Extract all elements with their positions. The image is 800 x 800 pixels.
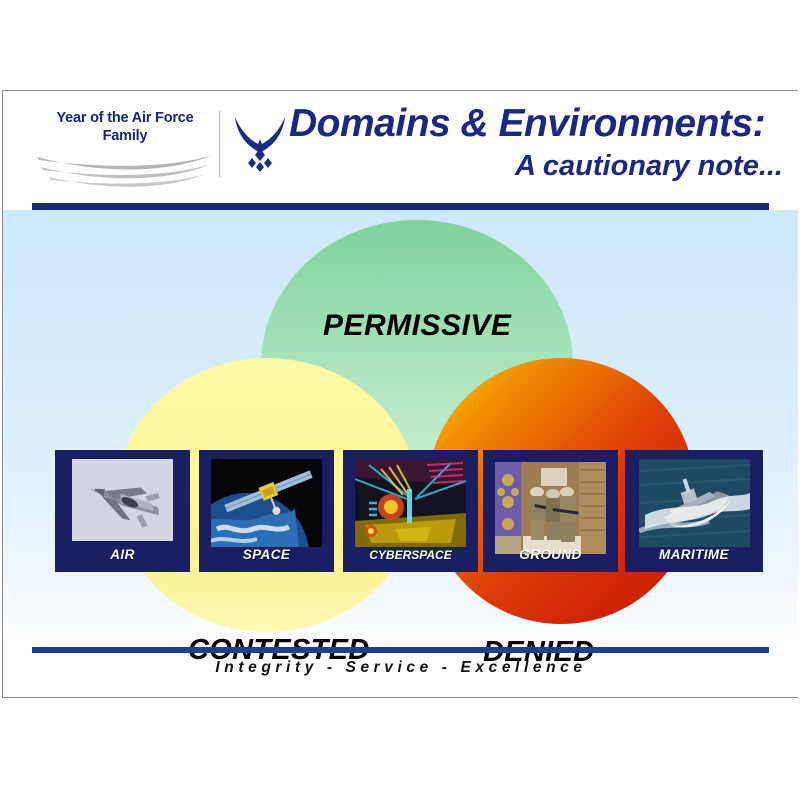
footer-divider-rule <box>32 647 769 653</box>
domain-tile-maritime[interactable]: MARITIME <box>625 450 763 572</box>
domain-tile-label: MARITIME <box>625 547 763 562</box>
page-title: Domains & Environments: <box>289 101 787 147</box>
cyber-data-tunnel-photo <box>355 459 466 547</box>
page-subtitle: A cautionary note... <box>289 147 787 185</box>
logo-text-block: Year of the Air Force Family <box>35 109 215 145</box>
fighter-jet-photo <box>72 459 173 541</box>
slide-header: Year of the Air Force Family Domains & E… <box>3 91 798 203</box>
domain-tile-label: AIR <box>55 547 190 562</box>
logo-line-2: Family <box>103 128 148 144</box>
logo-line-1: Year of the Air Force <box>56 110 193 126</box>
domain-tile-label: SPACE <box>199 547 334 562</box>
domain-tile-air[interactable]: AIR <box>55 450 190 572</box>
presentation-slide: Year of the Air Force Family Domains & E… <box>2 90 798 698</box>
domain-tile-space[interactable]: SPACE <box>199 450 334 572</box>
logo-divider <box>219 111 220 177</box>
domain-tile-ground[interactable]: GROUND <box>483 450 618 572</box>
slide-title-block: Domains & Environments: A cautionary not… <box>289 101 787 185</box>
naval-ship-photo <box>639 459 750 547</box>
domain-tile-cyberspace[interactable]: CYBERSPACE <box>343 450 478 572</box>
footer-motto: Integrity - Service - Excellence <box>3 659 798 677</box>
domain-tile-row: AIR <box>3 210 798 644</box>
soldiers-patrol-photo <box>495 462 606 554</box>
air-force-wings-icon <box>231 113 289 175</box>
header-divider-rule <box>32 203 769 210</box>
satellite-earth-photo <box>211 459 322 547</box>
domain-tile-label: GROUND <box>483 547 618 562</box>
year-of-af-family-logo: Year of the Air Force Family <box>35 109 215 189</box>
air-force-swoosh-icon <box>35 151 215 187</box>
domain-tile-label: CYBERSPACE <box>343 548 478 562</box>
